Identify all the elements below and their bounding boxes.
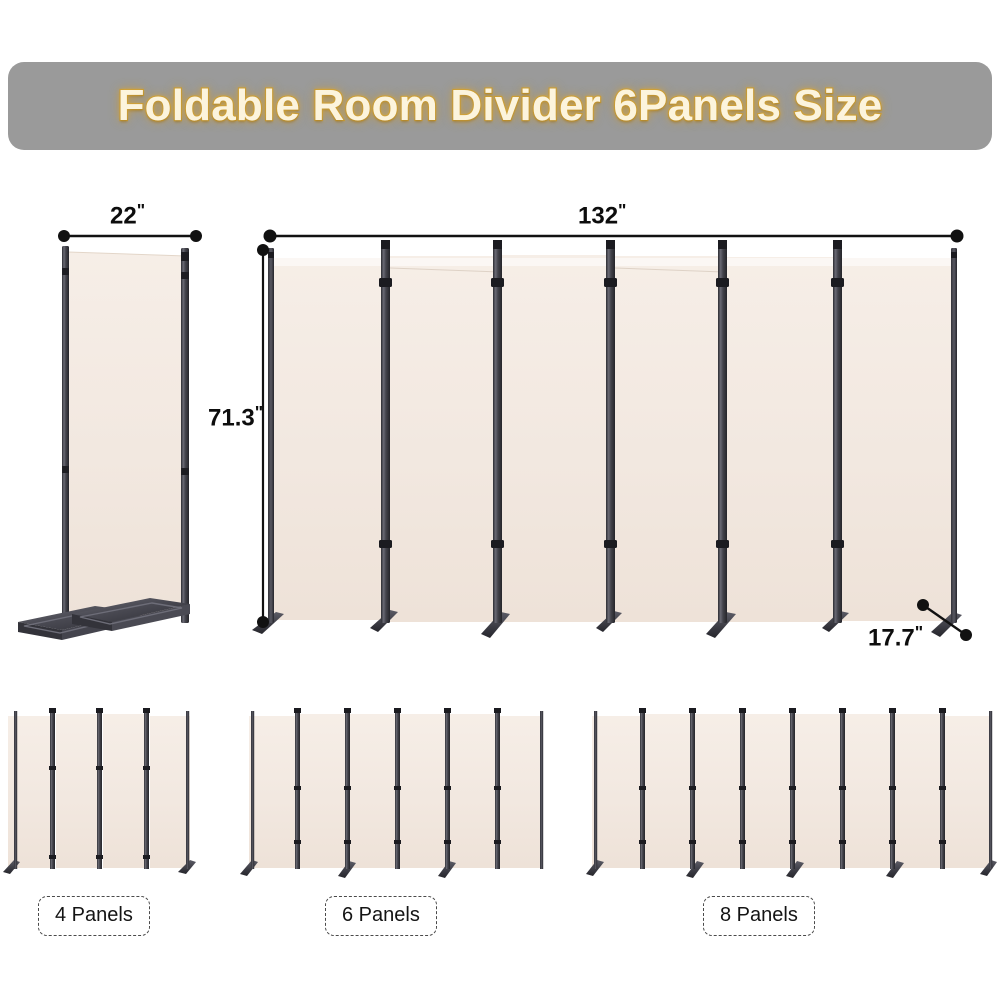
divider-pole <box>295 708 300 869</box>
divider-pole <box>14 711 17 869</box>
dimension-label-height: 71.3" <box>208 402 262 432</box>
foot <box>686 861 704 878</box>
divider-pole <box>951 248 957 623</box>
divider-pole <box>268 248 274 623</box>
dimension-line-17-7 <box>917 599 972 641</box>
foot <box>240 860 258 876</box>
single-panel-pole-right <box>181 248 189 623</box>
panel-fabric <box>744 714 792 868</box>
foot <box>596 611 622 632</box>
divider-pole <box>395 708 400 869</box>
foot <box>3 860 20 874</box>
divider-pole <box>604 240 617 623</box>
divider-pole <box>890 708 895 869</box>
panel-fabric <box>842 258 955 621</box>
single-panel-view <box>18 230 202 640</box>
foot <box>178 860 196 874</box>
divider-pole <box>186 711 189 869</box>
infographic-root: Foldable Room Divider 6Panels Size <box>0 0 1000 1000</box>
divider-pole <box>379 240 392 623</box>
variant-thumbnail-8-panels <box>586 708 997 878</box>
variant-thumbnail-4-panels <box>3 708 196 874</box>
foot <box>586 860 604 876</box>
foot <box>338 861 356 878</box>
variant-label-8-panels[interactable]: 8 Panels <box>703 896 815 936</box>
foot <box>931 612 962 637</box>
panel-fabric <box>349 714 397 868</box>
panel-fabric <box>794 714 842 868</box>
panel-fabric <box>399 714 447 868</box>
single-panel-fabric <box>68 252 186 620</box>
divider-pole <box>540 711 543 869</box>
dimension-line-22 <box>58 230 202 242</box>
pole-connector <box>181 468 189 475</box>
panel-fabric <box>249 716 297 868</box>
panel-fabric <box>894 714 942 868</box>
divider-pole <box>831 240 844 623</box>
title-banner: Foldable Room Divider 6Panels Size <box>8 62 992 150</box>
panel-fabric <box>56 714 99 868</box>
foot <box>886 861 904 878</box>
dimension-line-71-3 <box>257 244 269 628</box>
panel-fabric <box>644 714 692 868</box>
product-diagram <box>0 0 1000 1000</box>
divider-pole <box>491 240 504 623</box>
divider-pole <box>495 708 500 869</box>
variant-label-6-panels[interactable]: 6 Panels <box>325 896 437 936</box>
single-panel-pole-left <box>62 246 69 628</box>
foot <box>706 612 736 638</box>
foot <box>370 610 398 632</box>
panel-fabric <box>501 255 610 622</box>
panel-fabric <box>592 716 642 868</box>
divider-pole <box>345 708 350 869</box>
variant-thumbnail-6-panels <box>240 708 543 878</box>
divider-pole <box>251 711 254 869</box>
divider-pole <box>594 711 597 869</box>
panel-fabric <box>8 716 52 868</box>
page-title: Foldable Room Divider 6Panels Size <box>118 81 883 131</box>
pole-connector <box>181 252 189 261</box>
pole-connector <box>62 466 69 473</box>
foot <box>786 861 804 878</box>
six-panel-main-view <box>252 230 972 642</box>
dimension-label-width-single: 22" <box>110 200 144 230</box>
panel-fabric <box>103 714 146 868</box>
divider-pole <box>50 708 55 869</box>
divider-pole <box>445 708 450 869</box>
divider-pole <box>690 708 695 869</box>
divider-pole <box>640 708 645 869</box>
pole-connector <box>181 272 189 279</box>
panel-fabric <box>389 256 497 622</box>
divider-pole <box>716 240 729 623</box>
panel-fabric <box>274 258 384 620</box>
panel-fabric <box>726 257 838 622</box>
dimension-label-width-overall: 132" <box>578 200 625 230</box>
foot <box>481 612 510 638</box>
panel-fabric <box>449 714 497 868</box>
panel-fabric <box>944 716 992 868</box>
divider-pole <box>989 711 992 869</box>
divider-pole <box>840 708 845 869</box>
base-feet <box>252 610 962 638</box>
divider-pole <box>940 708 945 869</box>
foot <box>980 860 997 876</box>
panel-fabric <box>499 716 543 868</box>
single-panel-base-plate <box>18 598 190 640</box>
divider-pole <box>790 708 795 869</box>
foot <box>822 611 849 632</box>
divider-pole <box>740 708 745 869</box>
panel-fabric <box>694 714 742 868</box>
pole-connector <box>62 268 69 275</box>
divider-pole <box>97 708 102 869</box>
panel-fabric <box>844 714 892 868</box>
foot <box>252 612 284 634</box>
panel-fabric <box>150 716 190 868</box>
dimension-label-depth: 17.7" <box>868 622 922 652</box>
panel-fabric <box>614 256 722 622</box>
dimension-line-132 <box>264 230 964 243</box>
variant-label-4-panels[interactable]: 4 Panels <box>38 896 150 936</box>
panel-fabric <box>299 714 347 868</box>
foot <box>438 861 456 878</box>
divider-pole <box>144 708 149 869</box>
